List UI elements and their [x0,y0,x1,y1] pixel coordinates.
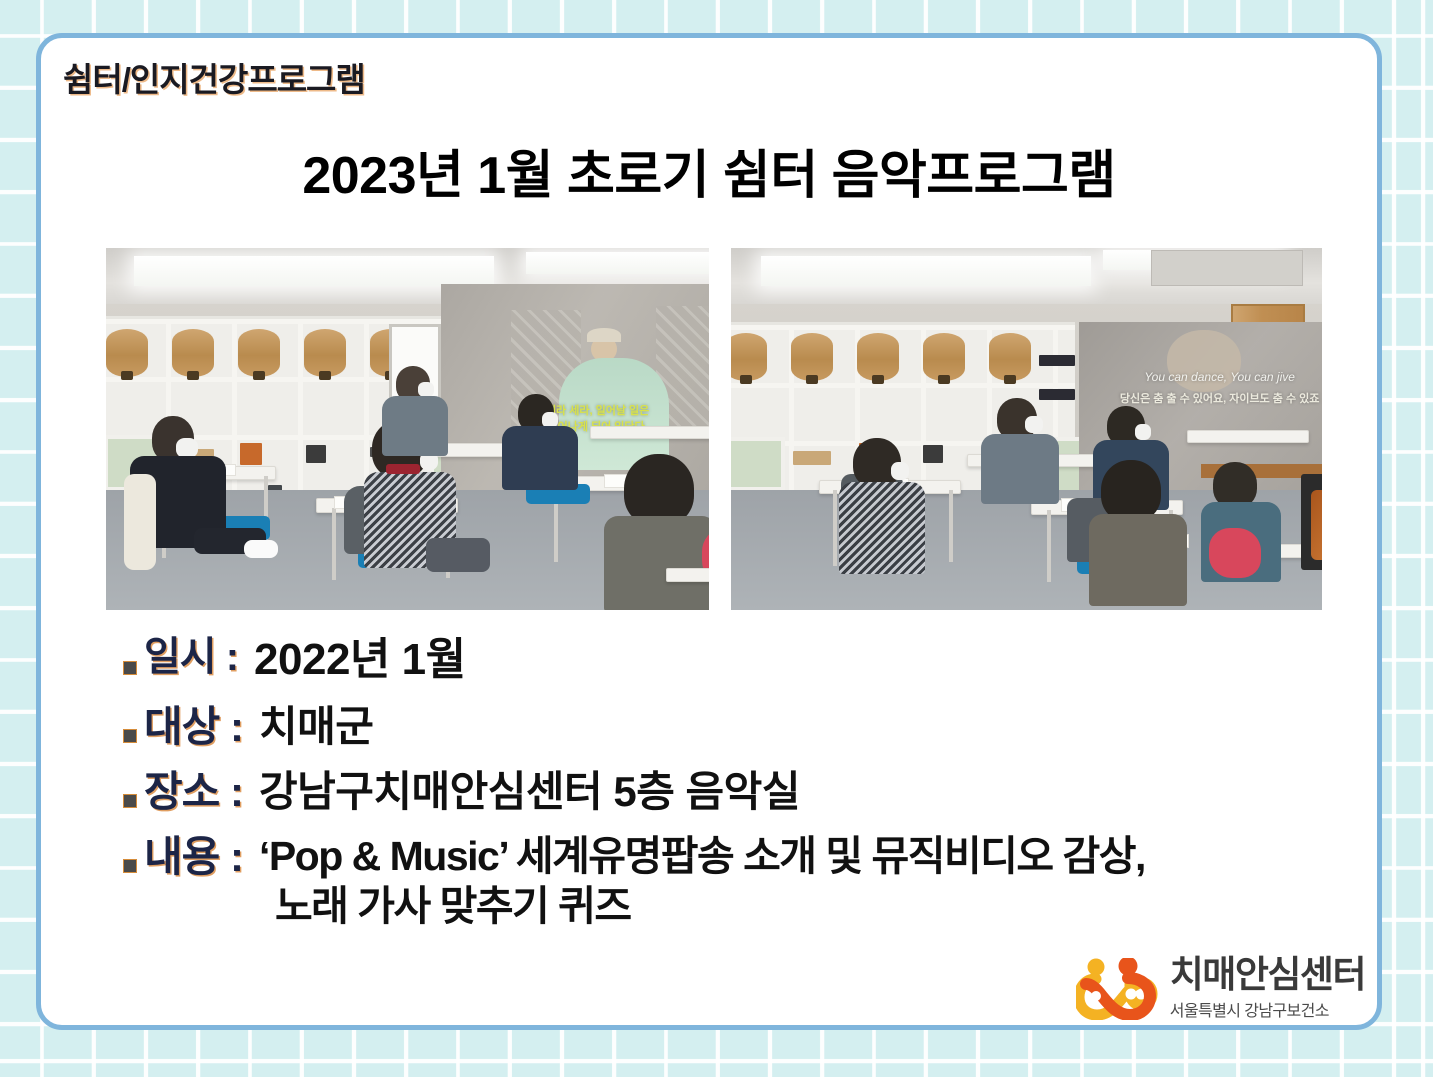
list-item-label: 장소 : [144,766,243,817]
list-item-date: 일시 : 2022년 1월 [123,633,1353,687]
face-mask [1025,416,1043,433]
logo-title: 치매안심센터 [1170,956,1365,993]
music-program-photo-left: 케 세라 세라, 일어날 일은 꼭 일어나게 되어 있단다. [106,248,709,610]
shoe [244,540,278,558]
bullet-square-icon [123,794,137,808]
slide-canvas: 쉼터/인지건강프로그램 2023년 1월 초로기 쉼터 음악프로그램 [0,0,1433,1077]
participant [378,366,464,464]
page-title: 2023년 1월 초로기 쉼터 음악프로그램 [41,133,1377,208]
red-bag [1209,528,1261,578]
janggu-drum [304,329,346,377]
leg [426,538,490,572]
logo-subtitle: 서울특별시 강남구보건소 [1170,997,1329,1021]
participant [598,454,709,610]
ceiling-vent [1151,250,1303,286]
janggu-drum [106,329,148,377]
list-item-value: 치매군 [259,701,373,752]
list-item-place: 장소 : 강남구치매안심센터 5층 음악실 [123,766,1353,817]
organization-logo: 치매안심센터 서울특별시 강남구보건소 [1076,956,1365,1021]
cello-case [1301,474,1322,570]
logo-text: 치매안심센터 서울특별시 강남구보건소 [1170,956,1365,1021]
janggu-drum [238,329,280,377]
participant [839,438,949,598]
scarf [386,464,420,474]
list-item-value: 강남구치매안심센터 5층 음악실 [259,766,800,817]
detail-list: 일시 : 2022년 1월 대상 : 치매군 장소 : 강남구치매안심센터 5층… [123,633,1353,945]
screen-person-hair [587,328,621,342]
ceiling-light [761,256,1091,286]
list-item-content: 내용 : ‘Pop & Music’ 세계유명팝송 소개 및 뮤직비디오 감상,… [123,831,1353,931]
music-program-photo-right: You can dance, You can jive 당신은 춤 출 수 있어… [731,248,1322,610]
list-item-value: 2022년 1월 [254,633,466,687]
bullet-square-icon [123,859,137,873]
slide-card: 쉼터/인지건강프로그램 2023년 1월 초로기 쉼터 음악프로그램 [36,33,1382,1030]
screen-subtitle-en: You can dance, You can jive [1079,370,1322,384]
list-item-label: 일시 : [144,633,238,682]
list-item-target: 대상 : 치매군 [123,701,1353,752]
janggu-drum [731,333,767,381]
ceiling-light-2 [526,252,709,274]
bullet-square-icon [123,729,137,743]
list-item-label: 대상 : [144,701,243,752]
janggu-drum [989,333,1031,381]
header-title: 쉼터/인지건강프로그램 [63,53,365,101]
face-mask [891,462,909,480]
face-mask [1135,424,1151,440]
face-mask [418,382,434,397]
list-item-value-wrap: ‘Pop & Music’ 세계유명팝송 소개 및 뮤직비디오 감상, 노래 가… [259,831,1145,931]
participant [981,398,1077,508]
shelf-panel [731,437,785,491]
dementia-center-logo-icon [1076,958,1160,1020]
photo-row: 케 세라 세라, 일어날 일은 꼭 일어나게 되어 있단다. [106,248,1322,610]
list-item-value-line2: 노래 가사 맞추기 퀴즈 [275,881,1145,931]
janggu-drum [857,333,899,381]
shelf-items [1039,355,1075,366]
desk [666,568,709,582]
participant [1087,460,1205,610]
janggu-drum [923,333,965,381]
janggu-drum [172,329,214,377]
participant [124,416,254,576]
face-mask [176,438,198,458]
desk [1187,430,1309,443]
desk [590,426,709,439]
janggu-drum [791,333,833,381]
shelf-items [793,451,831,465]
list-item-value: ‘Pop & Music’ 세계유명팝송 소개 및 뮤직비디오 감상, [259,833,1145,879]
participant [502,394,588,494]
screen-subtitle-kr: 당신은 춤 출 수 있어요, 자이브도 춤 수 있죠 [1079,390,1322,406]
coat [124,474,156,570]
shelf-items [306,445,326,463]
bullet-square-icon [123,661,137,675]
list-item-label: 내용 : [144,831,243,882]
ceiling-light [134,256,494,286]
infinity-figures-icon [1076,958,1160,1020]
